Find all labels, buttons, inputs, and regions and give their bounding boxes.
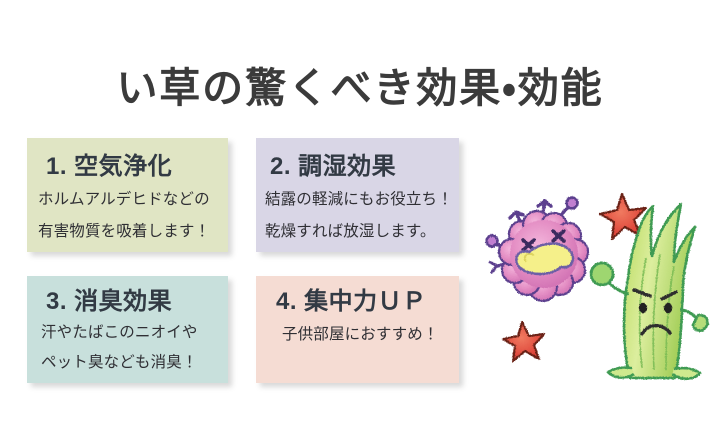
benefit-card-deodorizing: 3. 消臭効果 汗やたばこのニオイや ペット臭なども消臭！ [27, 276, 228, 383]
benefit-card-body-line-2: 有害物質を吸着します！ [38, 221, 228, 244]
benefit-card-heading: 4. 集中力ＵＰ [276, 289, 459, 315]
benefit-card-heading: 3. 消臭効果 [46, 289, 228, 315]
benefit-card-body-line-1: ホルムアルデヒドなどの [38, 189, 228, 212]
benefit-card-air-purification: 1. 空気浄化 ホルムアルデヒドなどの 有害物質を吸着します！ [27, 138, 228, 252]
benefit-card-body-line-1: 汗やたばこのニオイや [41, 322, 228, 345]
poster-root: い草の驚くべき効果・効能 1. 空気浄化 ホルムアルデヒドなどの 有害物質を吸着… [0, 0, 720, 429]
page-title: い草の驚くべき効果・効能 [0, 65, 720, 112]
rush-grass-character [591, 204, 708, 379]
benefit-card-humidity-control: 2. 調湿効果 結露の軽減にもお役立ち！ 乾燥すれば放湿します。 [256, 138, 459, 252]
benefit-card-body-line-1: 子供部屋におすすめ！ [282, 324, 459, 347]
benefit-card-concentration: 4. 集中力ＵＰ 子供部屋におすすめ！ [256, 276, 459, 383]
illustration-germ-vs-rush-grass [482, 182, 710, 382]
germ-character [487, 198, 588, 301]
benefit-card-body-line-1: 結露の軽減にもお役立ち！ [265, 189, 459, 212]
star-lower [503, 322, 544, 361]
benefit-card-body-line-2: ペット臭なども消臭！ [41, 352, 228, 375]
benefit-card-body-line-2: 乾燥すれば放湿します。 [265, 221, 459, 244]
benefit-card-heading: 2. 調湿効果 [270, 154, 459, 180]
benefit-card-heading: 1. 空気浄化 [46, 154, 228, 180]
